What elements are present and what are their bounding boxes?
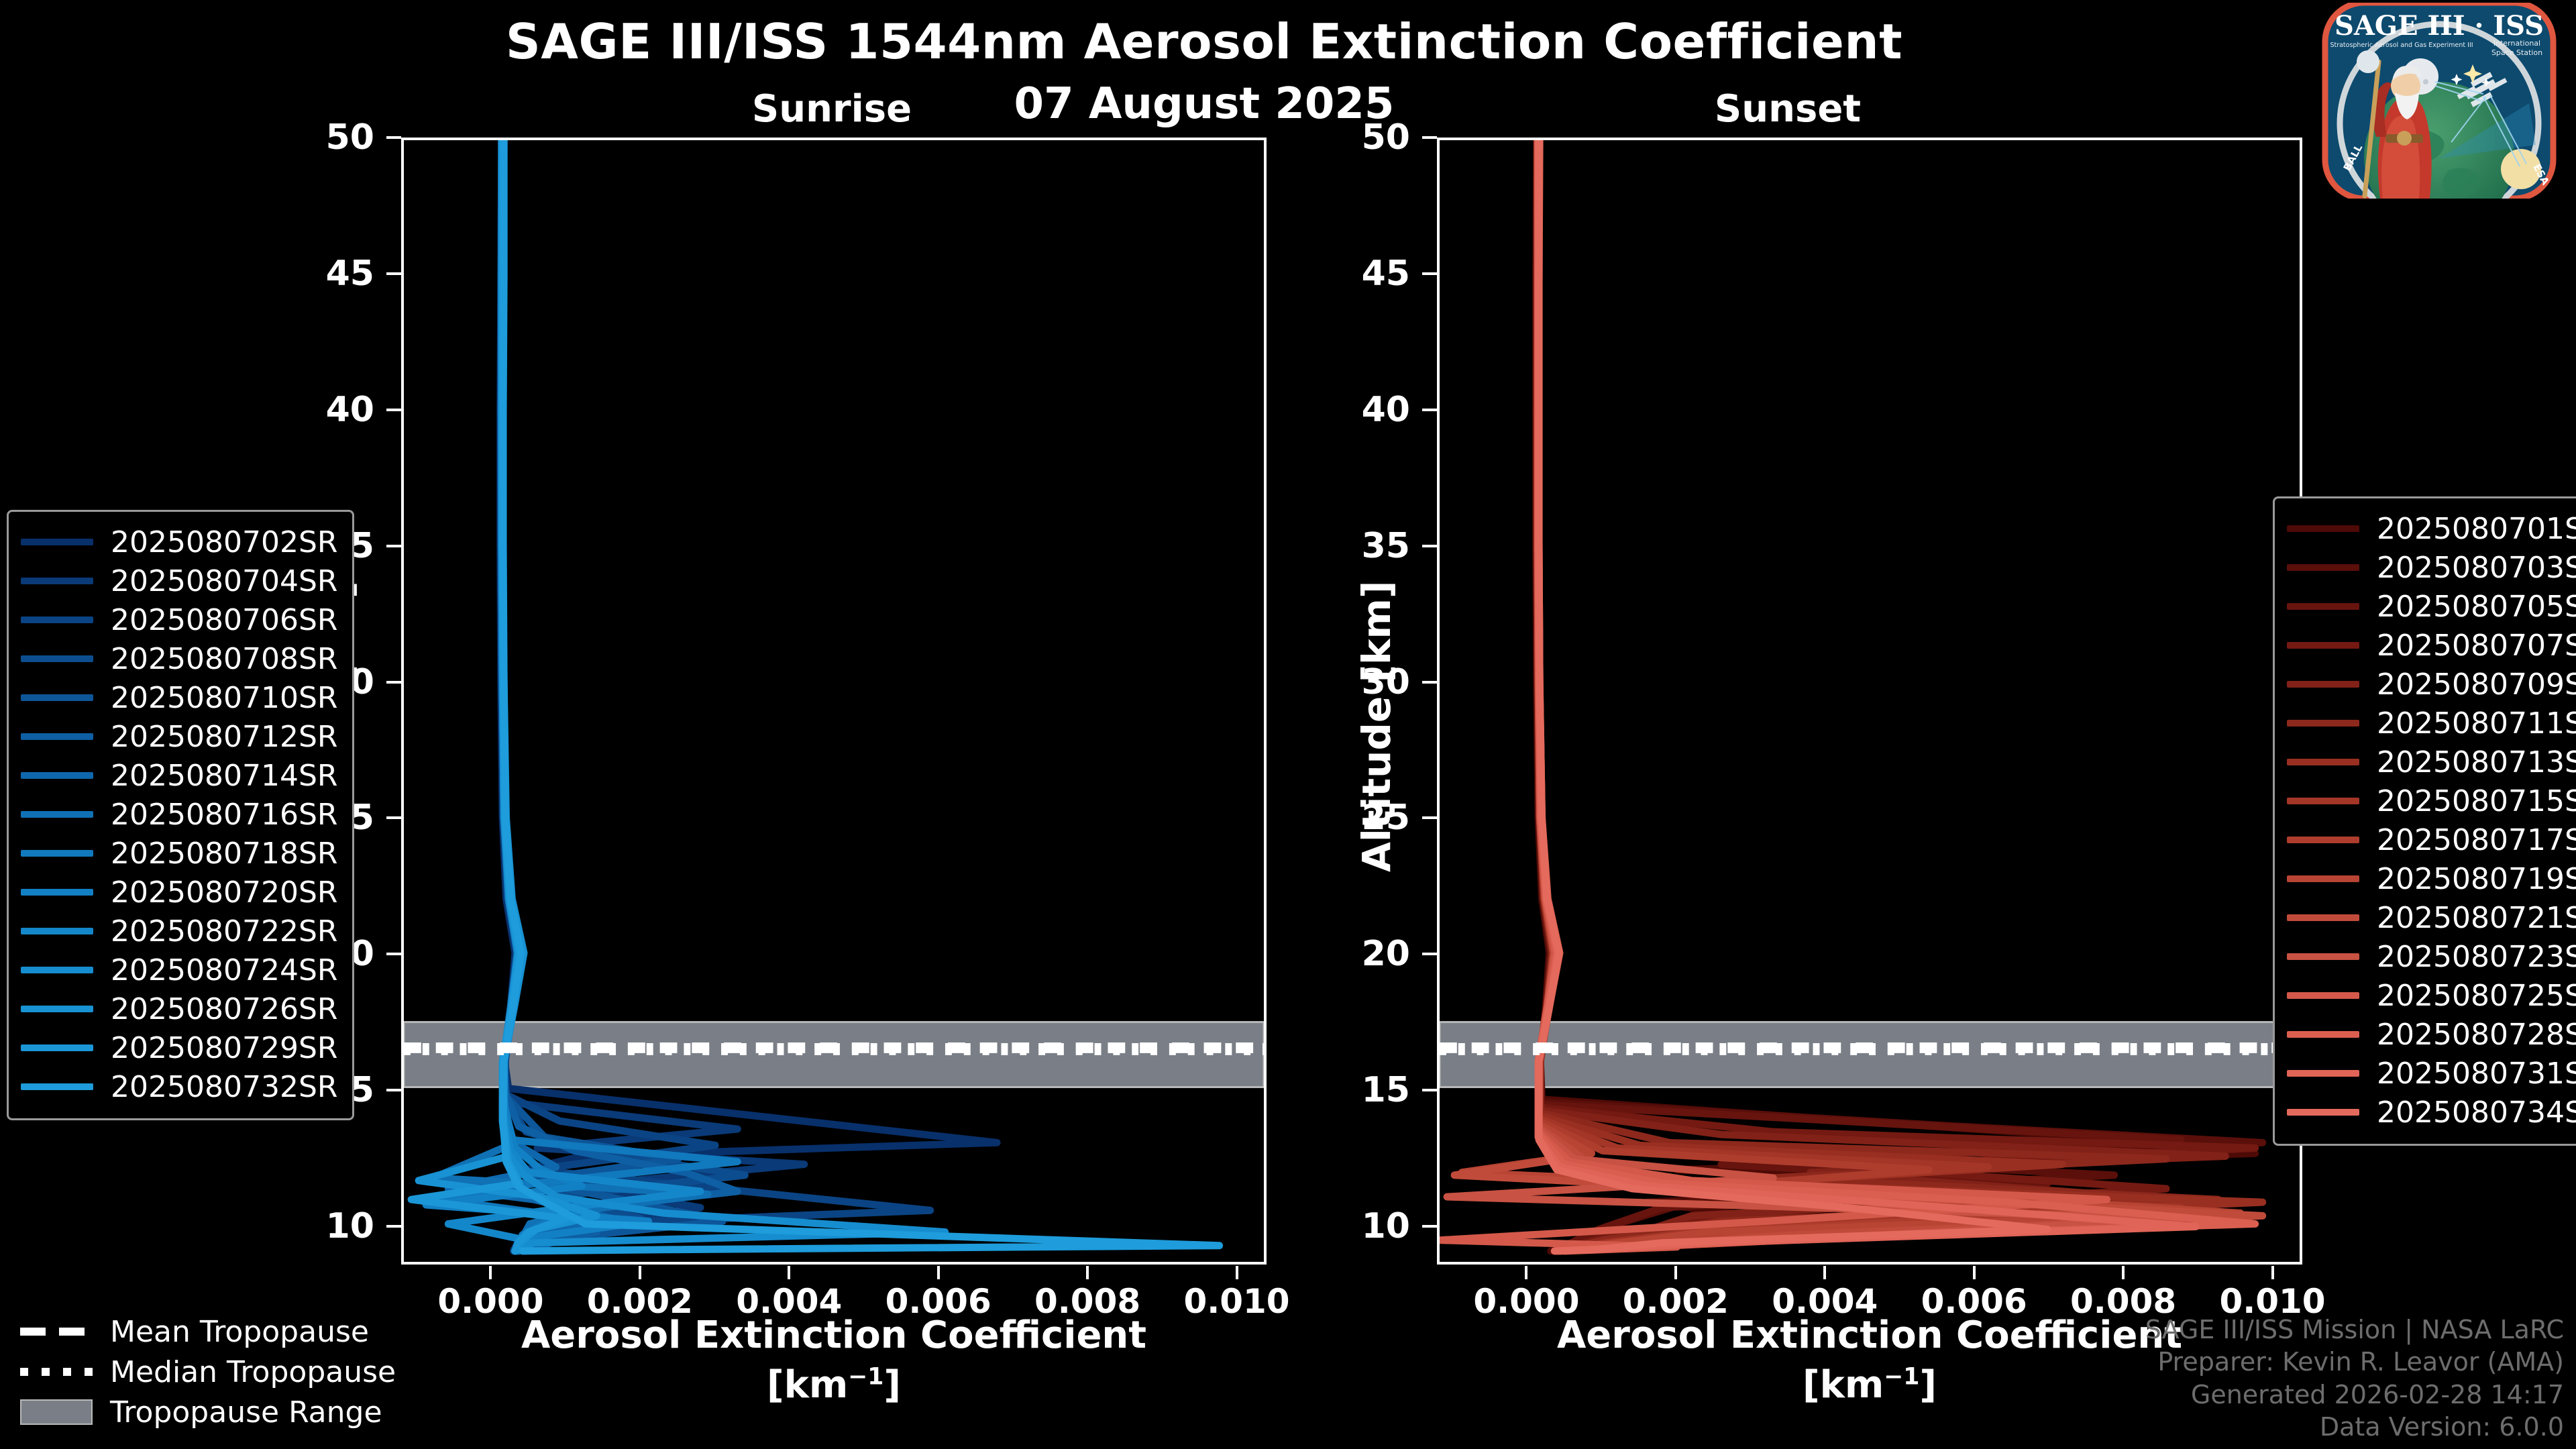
- x-axis-tick-mark: [1086, 1266, 1089, 1279]
- y-axis-tick-label: 40: [274, 390, 374, 430]
- legend-label: 2025080712SR: [111, 720, 337, 754]
- sunrise-legend-item[interactable]: 2025080729SR: [21, 1028, 337, 1067]
- x-unit-bracket-open-2: [km: [1803, 1363, 1884, 1407]
- y-axis-tick-mark: [1422, 272, 1437, 275]
- legend-label: 2025080724SR: [111, 953, 337, 987]
- sunrise-legend-item[interactable]: 2025080702SR: [21, 523, 337, 561]
- legend-color-swatch: [21, 928, 93, 934]
- legend-color-swatch: [2287, 720, 2359, 727]
- logo-subtitle-right-1: International: [2493, 39, 2540, 48]
- legend-color-swatch: [21, 655, 93, 662]
- legend-label: 2025080729SR: [111, 1031, 337, 1065]
- legend-color-swatch: [21, 616, 93, 623]
- page-title: SAGE III/ISS 1544nm Aerosol Extinction C…: [0, 13, 2408, 70]
- legend-item-median-tropopause: Median Tropopause: [20, 1352, 396, 1392]
- sunset-panel-label: Sunset: [1573, 87, 2002, 131]
- x-axis-unit-sunrise: [km−1]: [401, 1363, 1267, 1407]
- legend-label: 2025080734SS: [2377, 1095, 2576, 1130]
- x-unit-exponent-2: −1: [1884, 1363, 1919, 1390]
- legend-label: 2025080718SR: [111, 837, 337, 871]
- legend-color-swatch: [2287, 603, 2359, 610]
- legend-label: 2025080728SS: [2377, 1018, 2576, 1052]
- sunrise-panel-label: Sunrise: [617, 87, 1046, 131]
- legend-label: 2025080721SS: [2377, 901, 2576, 935]
- moon-crater-2: [2423, 79, 2428, 85]
- legend-label: 2025080707SS: [2377, 629, 2576, 663]
- sunrise-legend-item[interactable]: 2025080718SR: [21, 834, 337, 873]
- sage-iii-iss-mission-patch-logo: SAGE III · ISS Stratospheric Aerosol and…: [2308, 3, 2571, 199]
- y-axis-tick-mark: [386, 545, 401, 547]
- legend-label: 2025080722SR: [111, 914, 337, 949]
- sunset-legend-item[interactable]: 2025080703SS: [2287, 548, 2576, 587]
- legend-label: 2025080702SR: [111, 525, 337, 559]
- sunset-plot-area: [1437, 138, 2302, 1265]
- sunrise-legend-item[interactable]: 2025080704SR: [21, 561, 337, 600]
- y-axis-tick-label: 45: [274, 254, 374, 294]
- legend-label: 2025080717SS: [2377, 823, 2576, 857]
- x-unit-bracket-close: ]: [883, 1363, 901, 1407]
- x-axis-tick-mark: [1674, 1266, 1677, 1279]
- legend-color-swatch: [21, 578, 93, 584]
- legend-color-swatch: [2287, 837, 2359, 843]
- legend-color-swatch: [21, 850, 93, 857]
- y-axis-tick-mark: [1422, 953, 1437, 955]
- legend-label: 2025080708SR: [111, 642, 337, 676]
- sunset-legend-item[interactable]: 2025080713SS: [2287, 743, 2576, 782]
- legend-color-swatch: [21, 889, 93, 896]
- legend-label: 2025080723SS: [2377, 940, 2576, 974]
- x-axis-tick-mark: [639, 1266, 641, 1279]
- y-axis-tick-mark: [1422, 1089, 1437, 1091]
- belt-buckle: [2397, 131, 2412, 146]
- legend-label: 2025080731SS: [2377, 1057, 2576, 1091]
- x-axis-title-sunrise: Aerosol Extinction Coefficient: [401, 1315, 1267, 1356]
- legend-label: 2025080725SS: [2377, 979, 2576, 1013]
- y-axis-tick-label: 15: [1309, 1070, 1410, 1110]
- footer-line-version: Data Version: 6.0.0: [2145, 1411, 2564, 1444]
- sunset-legend-item[interactable]: 2025080715SS: [2287, 782, 2576, 820]
- dashed-line-icon: [20, 1328, 93, 1336]
- y-axis-tick-label: 10: [1309, 1206, 1410, 1246]
- legend-color-swatch: [21, 811, 93, 818]
- legend-label: 2025080703SS: [2377, 551, 2576, 585]
- legend-label: 2025080704SR: [111, 564, 337, 598]
- y-axis-tick-mark: [386, 272, 401, 275]
- sunset-legend-item[interactable]: 2025080721SS: [2287, 898, 2576, 937]
- y-axis-tick-mark: [1422, 1225, 1437, 1228]
- y-axis-tick-mark: [386, 953, 401, 955]
- x-axis-tick-mark: [489, 1266, 492, 1279]
- x-axis-tick-mark: [1973, 1266, 1976, 1279]
- legend-color-swatch: [2287, 992, 2359, 999]
- y-axis-tick-mark: [1422, 816, 1437, 819]
- legend-color-swatch: [21, 539, 93, 545]
- legend-color-swatch: [2287, 759, 2359, 765]
- footer-line-generated: Generated 2026-02-28 14:17: [2145, 1379, 2564, 1411]
- legend-label: 2025080709SS: [2377, 667, 2576, 702]
- filled-band-icon: [20, 1399, 93, 1425]
- sunset-legend-item[interactable]: 2025080701SS: [2287, 509, 2576, 548]
- sunset-legend-item[interactable]: 2025080728SS: [2287, 1015, 2576, 1054]
- legend-color-swatch: [2287, 1031, 2359, 1038]
- y-axis-tick-mark: [1422, 409, 1437, 411]
- legend-label: 2025080713SS: [2377, 745, 2576, 780]
- y-axis-tick-mark: [386, 1089, 401, 1091]
- y-axis-tick-mark: [1422, 136, 1437, 139]
- y-axis-tick-mark: [386, 409, 401, 411]
- y-axis-tick-mark: [1422, 545, 1437, 547]
- sunrise-legend-item[interactable]: 2025080712SR: [21, 717, 337, 756]
- y-axis-tick-mark: [386, 136, 401, 139]
- legend-color-swatch: [21, 694, 93, 701]
- legend-label: 2025080701SS: [2377, 512, 2576, 546]
- sunset-legend-item[interactable]: 2025080717SS: [2287, 820, 2576, 859]
- legend-color-swatch: [21, 967, 93, 973]
- legend-color-swatch: [2287, 875, 2359, 882]
- legend-color-swatch: [21, 1044, 93, 1051]
- legend-color-swatch: [2287, 564, 2359, 571]
- sunrise-legend-item[interactable]: 2025080720SR: [21, 873, 337, 912]
- legend-color-swatch: [2287, 1070, 2359, 1077]
- y-axis-tick-mark: [386, 1225, 401, 1228]
- x-axis-tick-mark: [2122, 1266, 2125, 1279]
- legend-label: 2025080719SS: [2377, 862, 2576, 896]
- legend-label: 2025080726SR: [111, 992, 337, 1026]
- legend-color-swatch: [2287, 798, 2359, 804]
- y-axis-title-sunset: Altitude [km]: [1354, 581, 1399, 872]
- legend-label: 2025080710SR: [111, 681, 337, 715]
- sunrise-plot-area: [401, 138, 1267, 1265]
- legend-color-swatch: [2287, 953, 2359, 960]
- x-axis-tick-mark: [937, 1266, 940, 1279]
- dotted-line-icon: [20, 1368, 93, 1376]
- legend-color-swatch: [2287, 525, 2359, 532]
- legend-label: 2025080705SS: [2377, 590, 2576, 624]
- legend-color-swatch: [21, 733, 93, 740]
- sunrise-legend-item[interactable]: 2025080706SR: [21, 600, 337, 639]
- legend-item-mean-tropopause: Mean Tropopause: [20, 1311, 396, 1352]
- sunset-legend[interactable]: 2025080701SS2025080703SS2025080705SS2025…: [2273, 496, 2576, 1146]
- sunset-legend-item[interactable]: 2025080719SS: [2287, 859, 2576, 898]
- footer-credits: SAGE III/ISS Mission | NASA LaRC Prepare…: [2145, 1313, 2564, 1444]
- logo-subtitle-left: Stratospheric Aerosol and Gas Experiment…: [2330, 42, 2473, 49]
- x-unit-bracket-close-2: ]: [1919, 1363, 1937, 1407]
- legend-label: 2025080715SS: [2377, 784, 2576, 818]
- legend-color-swatch: [2287, 1109, 2359, 1116]
- legend-label: 2025080714SR: [111, 759, 337, 793]
- sunset-legend-item[interactable]: 2025080711SS: [2287, 704, 2576, 743]
- logo-title: SAGE III · ISS: [2334, 10, 2544, 42]
- y-axis-tick-mark: [386, 816, 401, 819]
- sunset-legend-item[interactable]: 2025080705SS: [2287, 587, 2576, 626]
- x-axis-tick-mark: [2271, 1266, 2274, 1279]
- x-axis-tick-mark: [788, 1266, 790, 1279]
- sunrise-legend-item[interactable]: 2025080716SR: [21, 795, 337, 834]
- x-axis-tick-mark: [1823, 1266, 1826, 1279]
- sunset-legend-item[interactable]: 2025080734SS: [2287, 1093, 2576, 1132]
- legend-color-swatch: [2287, 681, 2359, 688]
- x-unit-exponent: −1: [848, 1363, 883, 1390]
- sunrise-legend[interactable]: 2025080702SR2025080704SR2025080706SR2025…: [7, 510, 354, 1120]
- sunrise-legend-item[interactable]: 2025080726SR: [21, 989, 337, 1028]
- footer-line-preparer: Preparer: Kevin R. Leavor (AMA): [2145, 1346, 2564, 1379]
- sunrise-legend-item[interactable]: 2025080710SR: [21, 678, 337, 717]
- sunset-legend-item[interactable]: 2025080731SS: [2287, 1054, 2576, 1093]
- legend-label: 2025080720SR: [111, 875, 337, 910]
- legend-color-swatch: [21, 772, 93, 779]
- staff-orb: [2357, 50, 2379, 73]
- x-axis-tick-mark: [1236, 1266, 1238, 1279]
- legend-color-swatch: [21, 1006, 93, 1012]
- legend-label-tropopause-range: Tropopause Range: [110, 1395, 382, 1430]
- footer-line-mission: SAGE III/ISS Mission | NASA LaRC: [2145, 1313, 2564, 1346]
- y-axis-tick-label: 10: [274, 1206, 374, 1246]
- sunset-profile-svg: [1440, 140, 2300, 1262]
- sunset-legend-item[interactable]: 2025080709SS: [2287, 665, 2576, 704]
- legend-label-median-tropopause: Median Tropopause: [110, 1355, 396, 1389]
- sunrise-legend-item[interactable]: 2025080732SR: [21, 1067, 337, 1106]
- sunrise-legend-item[interactable]: 2025080722SR: [21, 912, 337, 951]
- y-axis-tick-label: 35: [1309, 526, 1410, 566]
- y-axis-tick-mark: [386, 681, 401, 684]
- y-axis-tick-label: 20: [1309, 934, 1410, 974]
- legend-label: 2025080711SS: [2377, 706, 2576, 741]
- sunrise-legend-item[interactable]: 2025080714SR: [21, 756, 337, 795]
- y-axis-tick-label: 45: [1309, 254, 1410, 294]
- sunrise-legend-item[interactable]: 2025080708SR: [21, 639, 337, 678]
- legend-color-swatch: [21, 1083, 93, 1090]
- legend-label: 2025080716SR: [111, 798, 337, 832]
- legend-label-mean-tropopause: Mean Tropopause: [110, 1315, 369, 1349]
- tropopause-legend: Mean Tropopause Median Tropopause Tropop…: [20, 1311, 396, 1432]
- legend-color-swatch: [2287, 914, 2359, 921]
- sunset-legend-item[interactable]: 2025080723SS: [2287, 937, 2576, 976]
- legend-label: 2025080732SR: [111, 1070, 337, 1104]
- y-axis-tick-mark: [1422, 681, 1437, 684]
- y-axis-tick-label: 40: [1309, 390, 1410, 430]
- sunrise-legend-item[interactable]: 2025080724SR: [21, 951, 337, 989]
- sunset-legend-item[interactable]: 2025080725SS: [2287, 976, 2576, 1015]
- sunrise-profile-svg: [404, 140, 1264, 1262]
- legend-color-swatch: [2287, 642, 2359, 649]
- legend-item-tropopause-range: Tropopause Range: [20, 1392, 396, 1432]
- sunset-legend-item[interactable]: 2025080707SS: [2287, 626, 2576, 665]
- x-axis-tick-mark: [1525, 1266, 1527, 1279]
- legend-label: 2025080706SR: [111, 603, 337, 637]
- date-subtitle: 07 August 2025: [0, 79, 2408, 129]
- x-unit-bracket-open: [km: [767, 1363, 848, 1407]
- logo-subtitle-right-2: Space Station: [2491, 48, 2542, 57]
